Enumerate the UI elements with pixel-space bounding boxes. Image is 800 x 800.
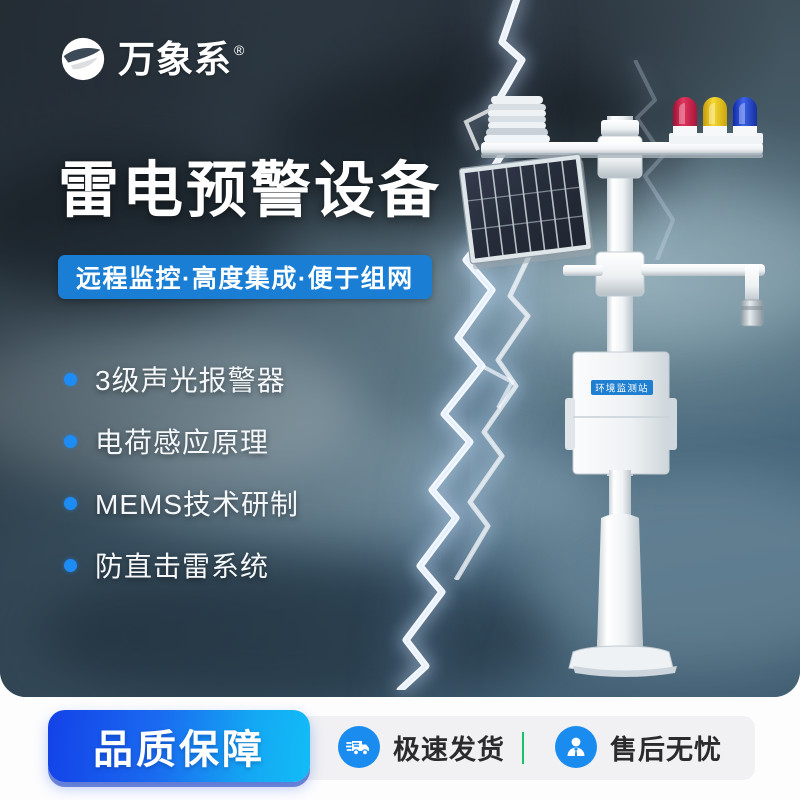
- red-alarm-beacon: [673, 97, 697, 136]
- blue-alarm-beacon: [733, 97, 757, 136]
- feature-label: 3级声光报警器: [95, 359, 286, 399]
- quality-guarantee-label: 品质保障: [93, 717, 265, 775]
- brand-logo[interactable]: 万象系 ®: [60, 36, 244, 82]
- feature-label: MEMS技术研制: [95, 483, 299, 523]
- trust-item-fast-shipping[interactable]: 极速发货: [338, 726, 505, 768]
- quality-guarantee-badge[interactable]: 品质保障: [48, 710, 310, 782]
- customer-service-icon: [555, 726, 597, 768]
- after-sales-label: 售后无忧: [610, 728, 722, 767]
- list-item: 电荷感应原理: [64, 410, 299, 472]
- bullet-dot-icon: [64, 373, 77, 386]
- swoosh-globe-logo-icon: [60, 36, 106, 82]
- solar-panel: [459, 154, 595, 270]
- list-item: 防直击雷系统: [64, 534, 299, 596]
- trust-item-after-sales[interactable]: 售后无忧: [555, 726, 722, 768]
- footer-divider: [522, 732, 524, 764]
- bullet-dot-icon: [64, 435, 77, 448]
- control-cabinet: 环境监测站: [565, 352, 677, 474]
- hero-section: 万象系 ® 雷电预警设备 远程监控·高度集成·便于组网 3级声光报警器 电荷感应…: [0, 0, 800, 697]
- delivery-truck-icon: [338, 726, 380, 768]
- trademark-symbol: ®: [234, 42, 244, 58]
- product-banner-page: 万象系 ® 雷电预警设备 远程监控·高度集成·便于组网 3级声光报警器 电荷感应…: [0, 0, 800, 800]
- product-image-lightning-warning-station: 环境监测站: [455, 80, 795, 690]
- subtitle-text: 远程监控·高度集成·便于组网: [76, 259, 414, 295]
- feature-list: 3级声光报警器 电荷感应原理 MEMS技术研制 防直击雷系统: [64, 348, 299, 596]
- bullet-dot-icon: [64, 497, 77, 510]
- sensor-arm: [641, 264, 765, 326]
- list-item: MEMS技术研制: [64, 472, 299, 534]
- cabinet-label: 环境监测站: [595, 383, 649, 395]
- trust-footer: 品质保障 极速发货: [0, 710, 800, 788]
- bullet-dot-icon: [64, 559, 77, 572]
- yellow-alarm-beacon: [703, 97, 727, 136]
- brand-name: 万象系: [118, 41, 232, 78]
- list-item: 3级声光报警器: [64, 348, 299, 410]
- feature-label: 电荷感应原理: [95, 421, 269, 461]
- fast-shipping-label: 极速发货: [393, 728, 505, 767]
- subtitle-banner: 远程监控·高度集成·便于组网: [58, 255, 432, 299]
- base-plate: [569, 646, 677, 677]
- radiation-shield-sensor: [484, 96, 550, 143]
- feature-label: 防直击雷系统: [95, 545, 269, 585]
- three-stage-alarm-beacons: [669, 97, 763, 144]
- page-title: 雷电预警设备: [58, 158, 442, 222]
